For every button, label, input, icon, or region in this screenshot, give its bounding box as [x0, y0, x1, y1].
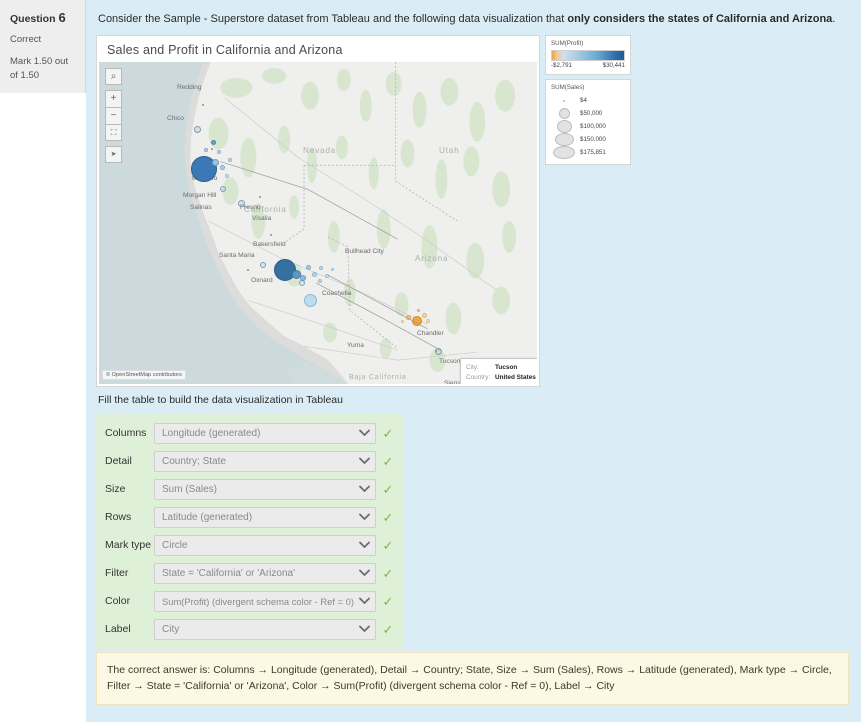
profit-legend-max: $30,441 [603, 62, 625, 69]
chevron-down-icon[interactable] [358, 483, 371, 496]
select-color-value: Sum(Profit) (divergent schema color - Re… [162, 596, 358, 607]
select-label[interactable]: City [154, 619, 376, 640]
form-row-color: Color Sum(Profit) (divergent schema colo… [96, 587, 395, 615]
sales-legend-item: $150,000 [551, 133, 625, 146]
question-mark: Mark 1.50 out of 1.50 [10, 55, 77, 83]
form-label-label: Label [96, 623, 154, 635]
select-color[interactable]: Sum(Profit) (divergent schema color - Re… [154, 591, 376, 612]
profit-legend-title: SUM(Profit) [551, 40, 625, 47]
form-row-filter: Filter State = 'California' or 'Arizona'… [96, 559, 395, 587]
form-label-filter: Filter [96, 567, 154, 579]
correct-tick-icon: ✓ [381, 567, 395, 580]
form-label-columns: Columns [96, 427, 154, 439]
legend-column: SUM(Profit) -$2,791 $30,441 SUM(Sales) $… [545, 35, 631, 169]
form-label-rows: Rows [96, 511, 154, 523]
map-tooltip: City:Tucson Country:United States State:… [460, 358, 537, 384]
select-columns-value: Longitude (generated) [162, 428, 358, 439]
map-city-label-yuma: Yuma [347, 342, 364, 349]
select-detail-value: Country; State [162, 456, 358, 467]
question-state: Correct [10, 34, 77, 45]
tooltip-value: United States [495, 373, 536, 383]
chevron-down-icon[interactable] [358, 595, 371, 608]
question-number: Question 6 [10, 10, 77, 25]
map-city-label-tucson: Tucson [439, 358, 460, 365]
profit-gradient-bar [551, 50, 625, 61]
map-city-label-oxnard: Oxnard [251, 277, 273, 284]
question-prompt: Consider the Sample - Superstore dataset… [98, 12, 849, 27]
prompt-tail: . [832, 13, 835, 25]
sales-legend-value: $175,851 [577, 149, 625, 156]
tooltip-value: Tucson [495, 363, 517, 373]
map-search-icon[interactable]: ⌕ [105, 68, 122, 85]
map-city-label-redding: Redding [177, 84, 202, 91]
select-rows[interactable]: Latitude (generated) [154, 507, 376, 528]
map-pan-reset-icon[interactable]: ⛶ [105, 124, 122, 141]
correct-tick-icon: ✓ [381, 427, 395, 440]
sales-legend-value: $150,000 [577, 136, 625, 143]
map-canvas[interactable]: ⌕ + − ⛶ ➤ California Nevada Utah [99, 62, 537, 384]
map-city-label-sierra: Sierra [444, 380, 462, 384]
correct-tick-icon: ✓ [381, 455, 395, 468]
sales-legend: SUM(Sales) $4 $50,000 $100,000 [545, 79, 631, 165]
select-detail[interactable]: Country; State [154, 451, 376, 472]
chevron-down-icon[interactable] [358, 427, 371, 440]
chevron-down-icon[interactable] [358, 567, 371, 580]
sales-legend-title: SUM(Sales) [551, 84, 625, 91]
form-label-color: Color [96, 595, 154, 607]
map-city-label-coachella: Coachella [322, 290, 351, 297]
map-attribution: © OpenStreetMap contributors [102, 370, 186, 380]
sales-legend-item: $175,851 [551, 146, 625, 159]
select-filter[interactable]: State = 'California' or 'Arizona' [154, 563, 376, 584]
map-selection-tool-group[interactable]: ➤ [105, 146, 122, 163]
select-filter-value: State = 'California' or 'Arizona' [162, 568, 358, 579]
tooltip-row: Country:United States [466, 373, 536, 383]
tooltip-key: City: [466, 363, 495, 373]
question-number-label: Question [10, 13, 56, 25]
profit-legend-min: -$2,791 [551, 62, 572, 69]
profit-legend: SUM(Profit) -$2,791 $30,441 [545, 35, 631, 75]
map-city-label-chico: Chico [167, 115, 184, 122]
answer-form: Columns Longitude (generated) ✓ Detail C… [96, 413, 403, 649]
form-label-mark-type: Mark type [96, 539, 154, 551]
select-mark-type-value: Circle [162, 540, 358, 551]
sales-legend-item: $4 [551, 94, 625, 107]
form-row-mark-type: Mark type Circle ✓ [96, 531, 395, 559]
sales-legend-value: $100,000 [577, 123, 625, 130]
map-selection-arrow-icon[interactable]: ➤ [105, 146, 122, 163]
map-city-label-morgan-hill: Morgan Hill [183, 192, 216, 199]
tooltip-value: Arizona [495, 383, 518, 384]
map-city-label-santa-maria: Santa Maria [219, 252, 255, 259]
form-row-columns: Columns Longitude (generated) ✓ [96, 419, 395, 447]
map-zoom-in-icon[interactable]: + [105, 90, 122, 107]
map-panel: Sales and Profit in California and Arizo… [96, 35, 540, 387]
question-info-panel: Question 6 Correct Mark 1.50 out of 1.50 [0, 0, 86, 93]
question-number-value: 6 [58, 10, 65, 25]
sales-legend-value: $4 [577, 97, 625, 104]
map-state-label-baja: Baja California [349, 374, 407, 381]
correct-tick-icon: ✓ [381, 595, 395, 608]
quiz-review-page: Question 6 Correct Mark 1.50 out of 1.50… [0, 0, 861, 722]
visualization: Sales and Profit in California and Arizo… [96, 35, 849, 387]
form-row-rows: Rows Latitude (generated) ✓ [96, 503, 395, 531]
map-landmass [99, 62, 537, 384]
select-rows-value: Latitude (generated) [162, 512, 358, 523]
viz-title: Sales and Profit in California and Arizo… [97, 36, 539, 62]
correct-tick-icon: ✓ [381, 623, 395, 636]
map-city-label-visalia: Visalia [252, 215, 271, 222]
question-content: Consider the Sample - Superstore dataset… [86, 0, 861, 722]
form-hint: Fill the table to build the data visuali… [98, 394, 849, 406]
form-row-detail: Detail Country; State ✓ [96, 447, 395, 475]
chevron-down-icon[interactable] [358, 455, 371, 468]
tooltip-key: Country: [466, 373, 495, 383]
correct-answer-box: The correct answer is: Columns → Longitu… [96, 652, 849, 705]
select-label-value: City [162, 624, 358, 635]
chevron-down-icon[interactable] [358, 539, 371, 552]
chevron-down-icon[interactable] [358, 623, 371, 636]
sales-legend-item: $50,000 [551, 107, 625, 120]
sales-legend-item: $100,000 [551, 120, 625, 133]
form-row-size: Size Sum (Sales) ✓ [96, 475, 395, 503]
sales-legend-value: $50,000 [577, 110, 625, 117]
map-city-label-bakersfield: Bakersfield [253, 241, 286, 248]
chevron-down-icon[interactable] [358, 511, 371, 524]
select-columns[interactable]: Longitude (generated) [154, 423, 376, 444]
prompt-lead: Consider the Sample - Superstore dataset… [98, 13, 567, 25]
map-state-label-utah: Utah [439, 146, 460, 155]
select-size-value: Sum (Sales) [162, 484, 358, 495]
prompt-emphasis: only considers the states of California … [567, 13, 832, 25]
correct-tick-icon: ✓ [381, 511, 395, 524]
select-size[interactable]: Sum (Sales) [154, 479, 376, 500]
map-zoom-out-icon[interactable]: − [105, 107, 122, 124]
map-state-label-arizona: Arizona [415, 254, 448, 263]
map-controls[interactable]: ⌕ + − ⛶ ➤ [105, 68, 122, 163]
tooltip-row: City:Tucson [466, 363, 536, 373]
tooltip-row: State:Arizona [466, 383, 536, 384]
form-label-size: Size [96, 483, 154, 495]
form-label-detail: Detail [96, 455, 154, 467]
map-zoom-group[interactable]: + − ⛶ [105, 90, 122, 141]
form-row-label: Label City ✓ [96, 615, 395, 643]
tooltip-key: State: [466, 383, 495, 384]
map-city-label-chandler: Chandler [417, 330, 444, 337]
map-city-label-salinas: Salinas [190, 204, 212, 211]
correct-tick-icon: ✓ [381, 539, 395, 552]
correct-tick-icon: ✓ [381, 483, 395, 496]
select-mark-type[interactable]: Circle [154, 535, 376, 556]
map-city-label-bullhead-city: Bullhead City [345, 248, 384, 255]
map-state-label-nevada: Nevada [303, 146, 336, 155]
